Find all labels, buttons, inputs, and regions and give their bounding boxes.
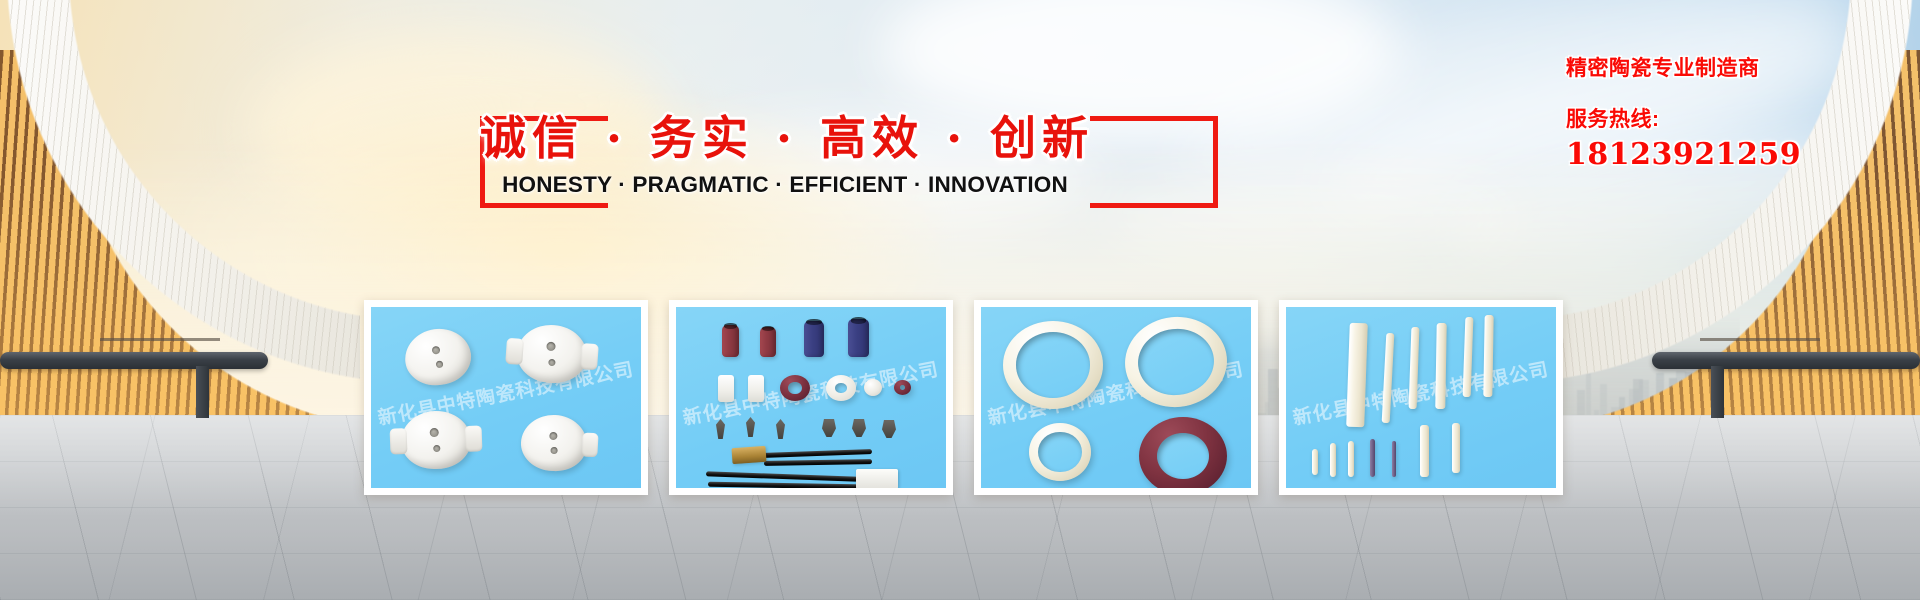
socket-hole [548, 358, 555, 365]
ring-bore [1157, 433, 1210, 480]
socket-ear [581, 432, 598, 457]
ceramic-ring-maroon [1139, 417, 1227, 488]
socket-ear [505, 338, 524, 365]
wire-lead [708, 482, 858, 488]
ceramic-ring-small [1029, 423, 1091, 481]
ceramic-ring-white [826, 375, 856, 401]
hotline-label: 服务热线: [1566, 103, 1896, 133]
ceramic-rod-small [1392, 441, 1396, 477]
ceramic-rod-small [1370, 439, 1375, 477]
ceramic-rod-small [1452, 423, 1460, 473]
banner-root: 新化县中特陶瓷科技有限公司 新化县中特陶瓷科技有限公司 新化县中特陶瓷科技有限公… [0, 0, 1920, 600]
ceramic-ring-small-maroon [894, 380, 911, 395]
ceramic-ring-maroon [780, 375, 810, 401]
ring-bore [900, 385, 906, 391]
brass-connector [731, 446, 766, 464]
socket-hole [549, 432, 558, 441]
ring-bore [835, 383, 847, 394]
ceramic-rod-small [1312, 449, 1318, 475]
slogan-block: 诚信 · 务实 · 高效 · 创新 HONESTY · PRAGMATIC · … [480, 110, 1090, 220]
ceramic-rod [1346, 323, 1368, 428]
socket-hole [551, 447, 558, 454]
ceramic-ring-large [1003, 321, 1103, 409]
white-connector [856, 469, 898, 488]
ring-bore [788, 382, 801, 394]
ring-bore [1038, 432, 1081, 473]
ceramic-rod [1409, 327, 1420, 409]
socket-ear [465, 426, 483, 452]
ceramic-tip-dark [716, 419, 725, 439]
ceramic-rod [1382, 333, 1395, 423]
socket-hole [547, 342, 557, 352]
product-panel-ceramic-rods[interactable]: 新化县中特陶瓷科技有限公司 [1279, 300, 1563, 495]
ceramic-rod-small [1330, 443, 1336, 477]
ceramic-tube [848, 319, 869, 357]
slogan-chinese: 诚信 · 务实 · 高效 · 创新 [480, 102, 1090, 168]
watermark-text: 新化县中特陶瓷科技有限公司 [1286, 350, 1556, 436]
ceramic-rod [1463, 317, 1474, 397]
hotline-phone-number[interactable]: 18123921259 [1566, 137, 1896, 172]
ceramic-plate [718, 375, 734, 402]
socket-ear [580, 343, 599, 370]
company-tagline: 精密陶瓷专业制造商 [1566, 52, 1896, 82]
ceramic-rod [1483, 315, 1493, 397]
ceramic-clip-dark [852, 419, 866, 437]
product-panel-ceramic-rings[interactable]: 新化县中特陶瓷科技有限公司 [974, 300, 1258, 495]
wire-lead [764, 459, 872, 466]
wire-lead [706, 471, 858, 481]
ceramic-lamp-holder [401, 325, 474, 390]
ceramic-rod-small [1348, 441, 1354, 477]
ring-bore [1016, 332, 1090, 397]
socket-hole [436, 361, 443, 368]
ceramic-tip-dark [776, 419, 785, 439]
socket-ear [389, 428, 407, 454]
ceramic-clip-dark [822, 419, 836, 437]
ceramic-ring-large [1121, 312, 1232, 412]
ceramic-lamp-holder [515, 323, 589, 386]
ceramic-rod [1435, 323, 1446, 409]
product-panel-ceramic-tubes[interactable]: 新化县中特陶瓷科技有限公司 [669, 300, 953, 495]
ceramic-lamp-holder [520, 413, 589, 472]
ceramic-tube [804, 321, 824, 357]
socket-hole [430, 428, 439, 437]
ceramic-tube [722, 325, 739, 357]
ceramic-tube [760, 327, 776, 357]
ceramic-rod-small [1420, 425, 1429, 477]
ceramic-clip-dark [882, 420, 896, 438]
ceramic-plate [748, 375, 764, 402]
bracket-right-icon [1090, 116, 1218, 208]
contact-block: 精密陶瓷专业制造商 服务热线: 18123921259 [1566, 52, 1896, 172]
ceramic-tip-dark [746, 417, 755, 437]
wire-lead [762, 449, 872, 458]
socket-hole [431, 345, 441, 355]
ceramic-nub [864, 379, 882, 396]
ring-bore [1135, 325, 1217, 399]
product-panel-ceramic-lamp-holders[interactable]: 新化县中特陶瓷科技有限公司 [364, 300, 648, 495]
ceramic-lamp-holder [400, 410, 472, 470]
socket-hole [433, 444, 440, 451]
slogan-english: HONESTY · PRAGMATIC · EFFICIENT · INNOVA… [480, 172, 1090, 198]
